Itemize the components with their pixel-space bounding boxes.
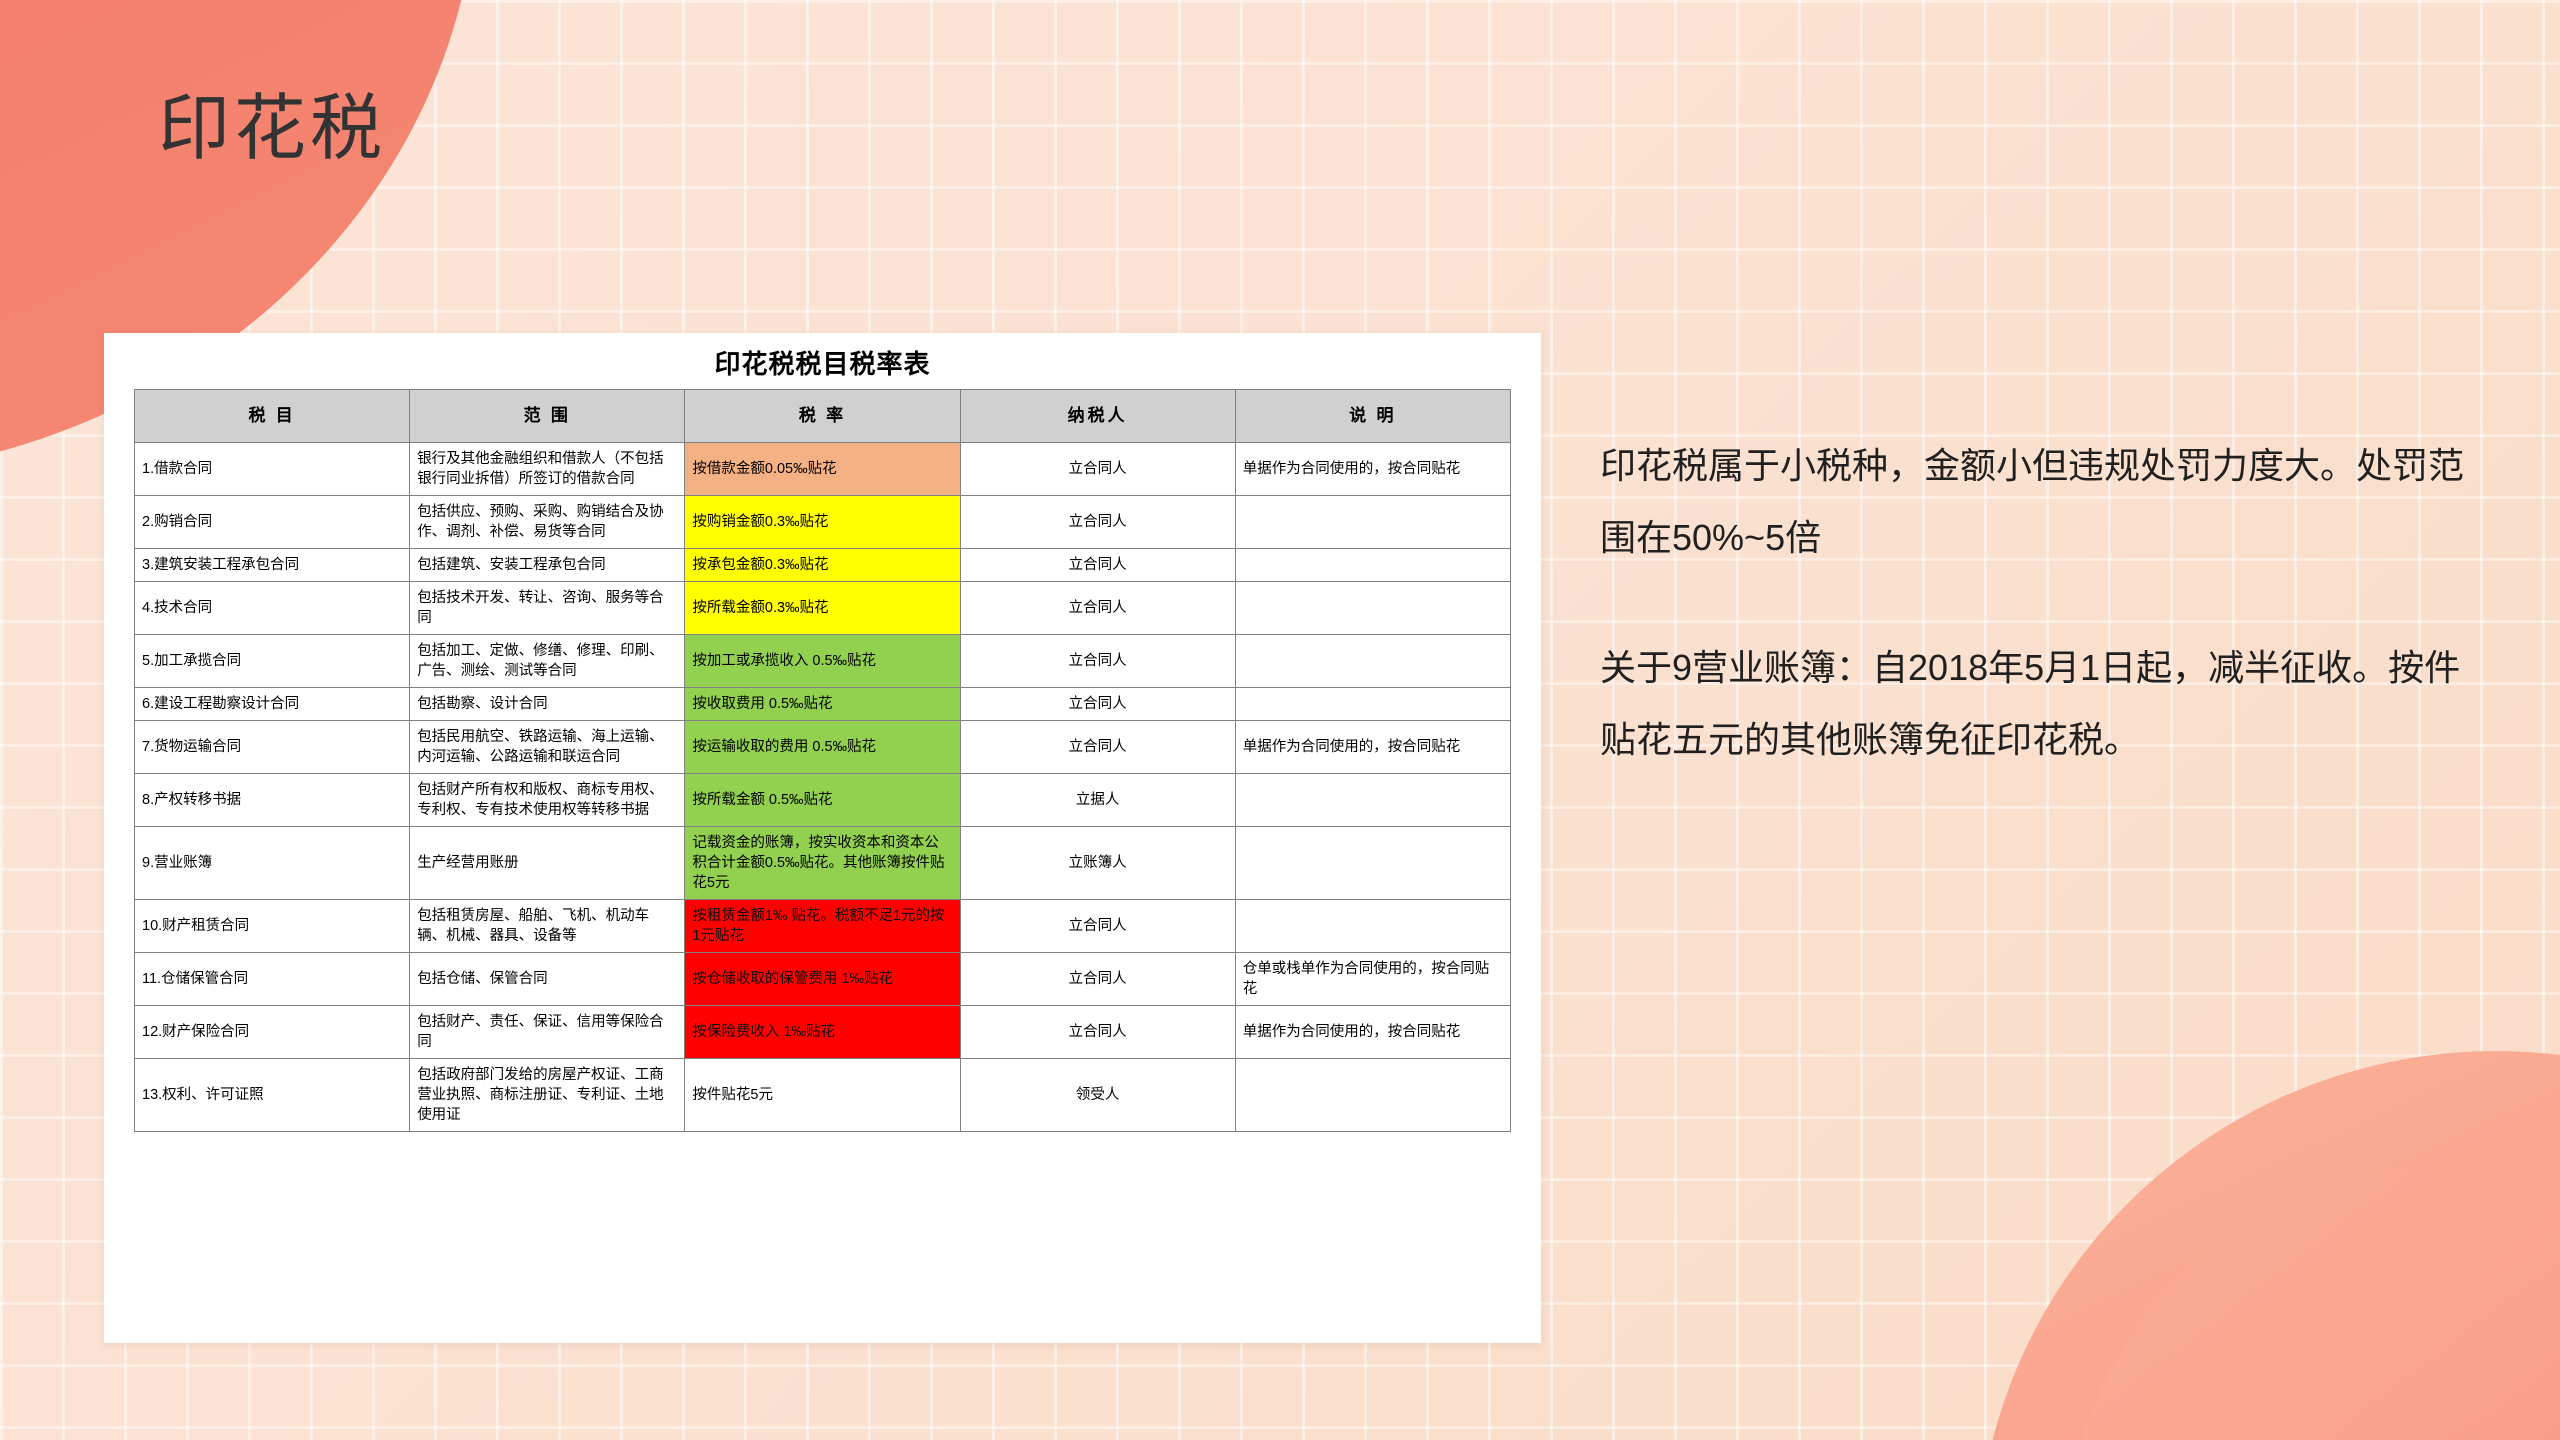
cell-tax-rate: 按承包金额0.3‰贴花 (685, 549, 960, 582)
cell-scope: 包括民用航空、铁路运输、海上运输、内河运输、公路运输和联运合同 (410, 721, 685, 774)
table-caption: 印花税税目税率表 (104, 333, 1541, 389)
slide-canvas: 印花税 印花税税目税率表 税 目 范 围 税 率 纳税人 说 明 1.借款合同银… (0, 0, 2560, 1440)
column-header-scope: 范 围 (410, 390, 685, 443)
cell-tax-rate: 按件贴花5元 (685, 1059, 960, 1132)
cell-tax-rate: 按保险费收入 1‰贴花 (685, 1006, 960, 1059)
stamp-tax-rate-table: 税 目 范 围 税 率 纳税人 说 明 1.借款合同银行及其他金融组织和借款人（… (134, 389, 1511, 1132)
cell-tax-rate: 按租赁金额1‰ 贴花。税额不足1元的按1元贴花 (685, 900, 960, 953)
cell-tax-rate: 按仓储收取的保管费用 1‰贴花 (685, 953, 960, 1006)
cell-scope: 包括仓储、保管合同 (410, 953, 685, 1006)
table-row: 1.借款合同银行及其他金融组织和借款人（不包括银行同业拆借）所签订的借款合同按借… (135, 443, 1511, 496)
cell-scope: 包括财产、责任、保证、信用等保险合同 (410, 1006, 685, 1059)
note-paragraph-2: 关于9营业账簿：自2018年5月1日起，减半征收。按件贴花五元的其他账簿免征印花… (1600, 632, 2490, 776)
cell-tax-rate: 按加工或承揽收入 0.5‰贴花 (685, 635, 960, 688)
table-header-row: 税 目 范 围 税 率 纳税人 说 明 (135, 390, 1511, 443)
cell-tax-item: 2.购销合同 (135, 496, 410, 549)
cell-taxpayer: 立合同人 (960, 900, 1235, 953)
cell-note: 单据作为合同使用的，按合同贴花 (1235, 1006, 1510, 1059)
cell-scope: 包括供应、预购、采购、购销结合及协作、调剂、补偿、易货等合同 (410, 496, 685, 549)
column-header-item: 税 目 (135, 390, 410, 443)
table-row: 11.仓储保管合同包括仓储、保管合同按仓储收取的保管费用 1‰贴花立合同人仓单或… (135, 953, 1511, 1006)
cell-tax-item: 1.借款合同 (135, 443, 410, 496)
cell-taxpayer: 立合同人 (960, 443, 1235, 496)
cell-tax-rate: 按所载金额 0.5‰贴花 (685, 774, 960, 827)
cell-note (1235, 900, 1510, 953)
cell-note (1235, 688, 1510, 721)
cell-taxpayer: 立账簿人 (960, 827, 1235, 900)
cell-tax-item: 13.权利、许可证照 (135, 1059, 410, 1132)
cell-taxpayer: 立合同人 (960, 496, 1235, 549)
cell-tax-item: 10.财产租赁合同 (135, 900, 410, 953)
cell-tax-rate: 按购销金额0.3‰贴花 (685, 496, 960, 549)
cell-tax-item: 8.产权转移书据 (135, 774, 410, 827)
cell-tax-item: 11.仓储保管合同 (135, 953, 410, 1006)
cell-scope: 包括财产所有权和版权、商标专用权、专利权、专有技术使用权等转移书据 (410, 774, 685, 827)
rate-table-card: 印花税税目税率表 税 目 范 围 税 率 纳税人 说 明 1.借款合同银行及其他… (104, 333, 1541, 1343)
cell-scope: 包括租赁房屋、船舶、飞机、机动车辆、机械、器具、设备等 (410, 900, 685, 953)
cell-note: 仓单或栈单作为合同使用的，按合同贴花 (1235, 953, 1510, 1006)
cell-taxpayer: 领受人 (960, 1059, 1235, 1132)
cell-tax-rate: 记载资金的账簿，按实收资本和资本公积合计金额0.5‰贴花。其他账簿按件贴花5元 (685, 827, 960, 900)
cell-scope: 包括政府部门发给的房屋产权证、工商营业执照、商标注册证、专利证、土地使用证 (410, 1059, 685, 1132)
cell-scope: 银行及其他金融组织和借款人（不包括银行同业拆借）所签订的借款合同 (410, 443, 685, 496)
cell-note: 单据作为合同使用的，按合同贴花 (1235, 443, 1510, 496)
cell-note (1235, 774, 1510, 827)
table-header: 税 目 范 围 税 率 纳税人 说 明 (135, 390, 1511, 443)
table-body: 1.借款合同银行及其他金融组织和借款人（不包括银行同业拆借）所签订的借款合同按借… (135, 443, 1511, 1132)
cell-note (1235, 549, 1510, 582)
cell-taxpayer: 立合同人 (960, 953, 1235, 1006)
cell-note (1235, 496, 1510, 549)
cell-taxpayer: 立据人 (960, 774, 1235, 827)
cell-scope: 包括建筑、安装工程承包合同 (410, 549, 685, 582)
cell-taxpayer: 立合同人 (960, 688, 1235, 721)
table-row: 13.权利、许可证照包括政府部门发给的房屋产权证、工商营业执照、商标注册证、专利… (135, 1059, 1511, 1132)
cell-taxpayer: 立合同人 (960, 635, 1235, 688)
cell-scope: 生产经营用账册 (410, 827, 685, 900)
table-row: 7.货物运输合同包括民用航空、铁路运输、海上运输、内河运输、公路运输和联运合同按… (135, 721, 1511, 774)
column-header-payer: 纳税人 (960, 390, 1235, 443)
table-row: 6.建设工程勘察设计合同包括勘察、设计合同按收取费用 0.5‰贴花立合同人 (135, 688, 1511, 721)
table-row: 10.财产租赁合同包括租赁房屋、船舶、飞机、机动车辆、机械、器具、设备等按租赁金… (135, 900, 1511, 953)
decorative-blob-bottom-right-secondary (2060, 1170, 2560, 1440)
cell-taxpayer: 立合同人 (960, 1006, 1235, 1059)
cell-note: 单据作为合同使用的，按合同贴花 (1235, 721, 1510, 774)
page-title: 印花税 (158, 86, 386, 172)
cell-note (1235, 1059, 1510, 1132)
column-header-note: 说 明 (1235, 390, 1510, 443)
table-row: 3.建筑安装工程承包合同包括建筑、安装工程承包合同按承包金额0.3‰贴花立合同人 (135, 549, 1511, 582)
table-row: 4.技术合同包括技术开发、转让、咨询、服务等合同按所载金额0.3‰贴花立合同人 (135, 582, 1511, 635)
cell-tax-rate: 按收取费用 0.5‰贴花 (685, 688, 960, 721)
cell-tax-rate: 按运输收取的费用 0.5‰贴花 (685, 721, 960, 774)
cell-note (1235, 582, 1510, 635)
table-row: 9.营业账簿生产经营用账册记载资金的账簿，按实收资本和资本公积合计金额0.5‰贴… (135, 827, 1511, 900)
cell-tax-item: 5.加工承揽合同 (135, 635, 410, 688)
cell-note (1235, 827, 1510, 900)
decorative-blob-bottom-right (1961, 1008, 2560, 1440)
column-header-rate: 税 率 (685, 390, 960, 443)
cell-tax-item: 4.技术合同 (135, 582, 410, 635)
table-row: 12.财产保险合同包括财产、责任、保证、信用等保险合同按保险费收入 1‰贴花立合… (135, 1006, 1511, 1059)
table-row: 8.产权转移书据包括财产所有权和版权、商标专用权、专利权、专有技术使用权等转移书… (135, 774, 1511, 827)
cell-tax-item: 6.建设工程勘察设计合同 (135, 688, 410, 721)
side-notes: 印花税属于小税种，金额小但违规处罚力度大。处罚范围在50%~5倍 关于9营业账簿… (1600, 430, 2490, 776)
cell-scope: 包括勘察、设计合同 (410, 688, 685, 721)
cell-taxpayer: 立合同人 (960, 721, 1235, 774)
table-row: 2.购销合同包括供应、预购、采购、购销结合及协作、调剂、补偿、易货等合同按购销金… (135, 496, 1511, 549)
cell-tax-item: 7.货物运输合同 (135, 721, 410, 774)
cell-scope: 包括加工、定做、修缮、修理、印刷、广告、测绘、测试等合同 (410, 635, 685, 688)
cell-taxpayer: 立合同人 (960, 582, 1235, 635)
table-row: 5.加工承揽合同包括加工、定做、修缮、修理、印刷、广告、测绘、测试等合同按加工或… (135, 635, 1511, 688)
note-paragraph-1: 印花税属于小税种，金额小但违规处罚力度大。处罚范围在50%~5倍 (1600, 430, 2490, 574)
cell-scope: 包括技术开发、转让、咨询、服务等合同 (410, 582, 685, 635)
cell-tax-rate: 按借款金额0.05‰贴花 (685, 443, 960, 496)
cell-note (1235, 635, 1510, 688)
cell-taxpayer: 立合同人 (960, 549, 1235, 582)
cell-tax-item: 12.财产保险合同 (135, 1006, 410, 1059)
cell-tax-rate: 按所载金额0.3‰贴花 (685, 582, 960, 635)
cell-tax-item: 9.营业账簿 (135, 827, 410, 900)
cell-tax-item: 3.建筑安装工程承包合同 (135, 549, 410, 582)
